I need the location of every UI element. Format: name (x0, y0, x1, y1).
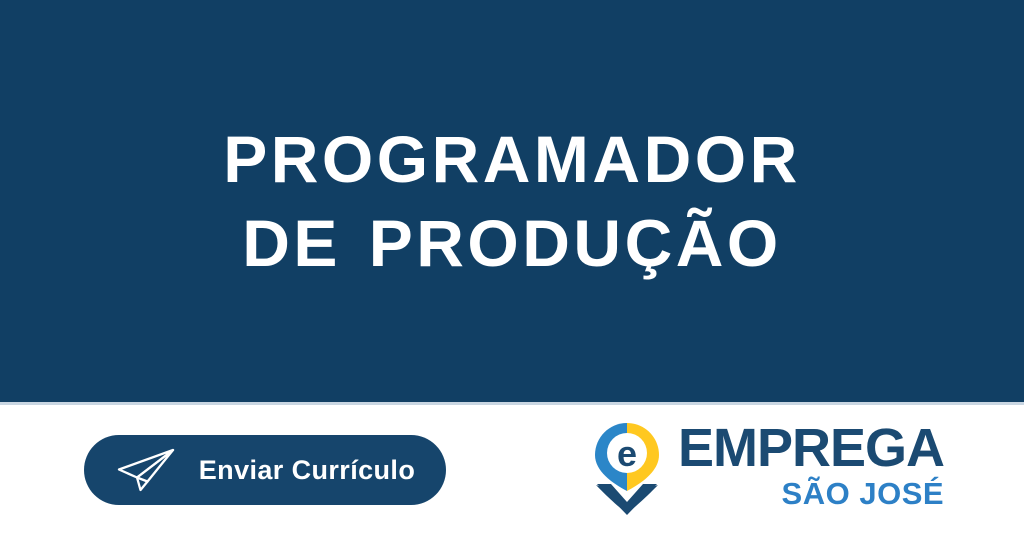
brand-logo[interactable]: e EMPREGA SÃO JOSÉ (590, 421, 944, 515)
job-vacancy-banner: PROGRAMADOR DE PRODUÇÃO Enviar Currículo (0, 0, 1024, 536)
send-resume-button[interactable]: Enviar Currículo (84, 435, 446, 505)
map-pin-location-icon: e (590, 421, 664, 515)
brand-subtitle: SÃO JOSÉ (782, 478, 945, 511)
send-resume-label: Enviar Currículo (199, 455, 415, 486)
brand-wordmark: EMPREGA SÃO JOSÉ (678, 422, 944, 514)
send-paper-plane-icon (115, 447, 177, 493)
hero-banner: PROGRAMADOR DE PRODUÇÃO (0, 0, 1024, 402)
svg-text:e: e (617, 433, 637, 474)
brand-name: EMPREGA (678, 422, 944, 475)
footer-bar: Enviar Currículo (0, 405, 1024, 536)
page-title: PROGRAMADOR DE PRODUÇÃO (162, 117, 862, 286)
